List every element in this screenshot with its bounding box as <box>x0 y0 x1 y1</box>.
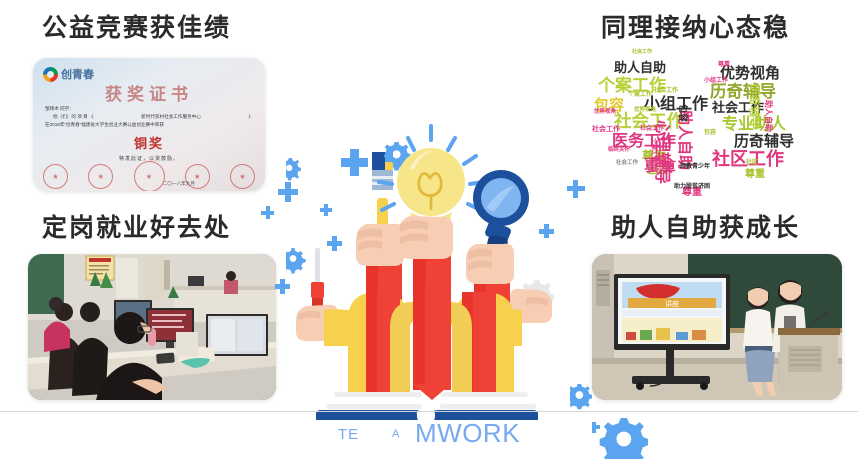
certificate-stamp-row <box>43 164 255 191</box>
decorative-plus-icon <box>565 178 587 200</box>
certificate-date: 二〇一八年九月 <box>163 181 195 187</box>
decorative-plus-icon <box>260 205 276 221</box>
word-cloud-term: 社会工作 <box>616 161 638 167</box>
certificate-project-suffix: 》 <box>248 114 253 120</box>
official-seal-icon <box>88 164 113 189</box>
award-certificate-image: 创青春 获奖证书 邹炜木 同学： 他（们）的 项 目 《 新时代农村社会工作服务… <box>33 58 265 191</box>
section-title-bottom-right: 助人自助获成长 <box>611 208 800 244</box>
official-seal-icon <box>43 164 68 189</box>
word-cloud-term: 个案工作 <box>650 138 656 162</box>
decorative-gear-icon <box>592 404 652 459</box>
color-arch-stack <box>348 286 514 400</box>
poster-canvas: 公益竞赛获佳绩 同理接纳心态稳 定岗就业好去处 助人自助获成长 创青春 获奖证书… <box>0 0 858 459</box>
certificate-project-line: 他（们）的 项 目 《 新时代农村社会工作服务中心 》 <box>53 114 253 120</box>
decorative-gear-icon <box>286 248 306 274</box>
certificate-project-name: 新时代农村社会工作服务中心 <box>141 114 201 120</box>
decorative-plus-icon <box>539 229 554 234</box>
word-cloud-term: 包容 <box>677 104 686 122</box>
word-cloud-term: 助人自助 <box>764 100 772 132</box>
official-seal-icon <box>230 164 255 189</box>
decorative-gear-icon <box>570 384 596 410</box>
svg-text:讲座: 讲座 <box>665 299 679 308</box>
certificate-context-line: 在2018年“创青春”福建省大学生创业大赛公益创业赛中荣获 <box>45 122 164 128</box>
word-cloud-term: 社会工作 <box>632 50 652 55</box>
word-cloud-term: 顾教青少年 <box>680 164 710 170</box>
section-title-bottom-left: 定岗就业好去处 <box>42 208 231 244</box>
certificate-recipient-line: 邹炜木 同学： <box>45 106 74 112</box>
word-cloud-term: 社会工作 <box>592 126 620 133</box>
teamwork-wordmark: TE A MWORK <box>330 418 540 454</box>
word-cloud-term: 包容 <box>704 130 716 136</box>
word-cloud-term: 历奇辅导 <box>710 84 776 101</box>
word-cloud-term: 助人自助 <box>614 62 666 75</box>
word-cloud-term: 尊重 <box>745 170 765 180</box>
word-cloud-term: 社会工作 <box>640 126 664 132</box>
certificate-prize-label: 铜奖 <box>33 133 265 152</box>
certificate-project-prefix: 他（们）的 项 目 《 <box>53 114 94 120</box>
office-photo-graphic <box>28 254 276 400</box>
classroom-presentation-photo: 讲座 <box>592 254 842 400</box>
word-cloud-term: 优势视角 <box>720 66 780 81</box>
teamwork-part-3: MWORK <box>415 418 520 449</box>
decorative-plus-icon <box>320 208 332 212</box>
word-cloud-term: 临终关怀 <box>608 148 630 154</box>
word-cloud-term: 优势视角 <box>594 110 616 116</box>
teamwork-part-2: A <box>392 428 399 440</box>
word-cloud-term: 助力脱贫济困 <box>674 184 710 190</box>
teamwork-illustration-graphic <box>286 120 576 420</box>
word-cloud-term: 社区 <box>746 160 758 166</box>
word-cloud-term: 历奇辅导 <box>734 134 794 149</box>
decorative-plus-icon <box>274 278 292 296</box>
word-cloud-term: 历奇辅导 <box>749 84 760 128</box>
certificate-heading: 获奖证书 <box>33 80 265 105</box>
open-book <box>316 392 538 420</box>
classroom-photo-graphic: 讲座 <box>592 254 842 400</box>
office-internship-photo <box>28 254 276 400</box>
official-seal-icon <box>134 161 165 191</box>
section-title-top-left: 公益竞赛获佳绩 <box>42 8 231 44</box>
teamwork-illustration <box>286 120 576 420</box>
social-work-word-cloud: 助人自助个案工作包容小组工作社会工作医务工作尊重包容优势视角历奇辅导社会工作专业… <box>592 48 850 200</box>
word-cloud-term: 尊重 <box>718 62 730 68</box>
section-title-top-right: 同理接纳心态稳 <box>601 8 790 44</box>
teamwork-part-1: TE <box>338 426 359 443</box>
word-cloud-term: 个案工作 <box>628 92 652 98</box>
decorative-plus-icon <box>276 180 300 204</box>
word-cloud-term: 小组工作 <box>704 78 728 84</box>
word-cloud-term: 优势视角 <box>634 108 656 114</box>
decorative-gear-icon <box>286 158 301 181</box>
decorative-plus-icon <box>327 241 342 246</box>
horizontal-divider <box>0 411 858 412</box>
decorative-plus-icon <box>341 149 368 176</box>
word-cloud-term: 社会工作 <box>654 88 678 94</box>
